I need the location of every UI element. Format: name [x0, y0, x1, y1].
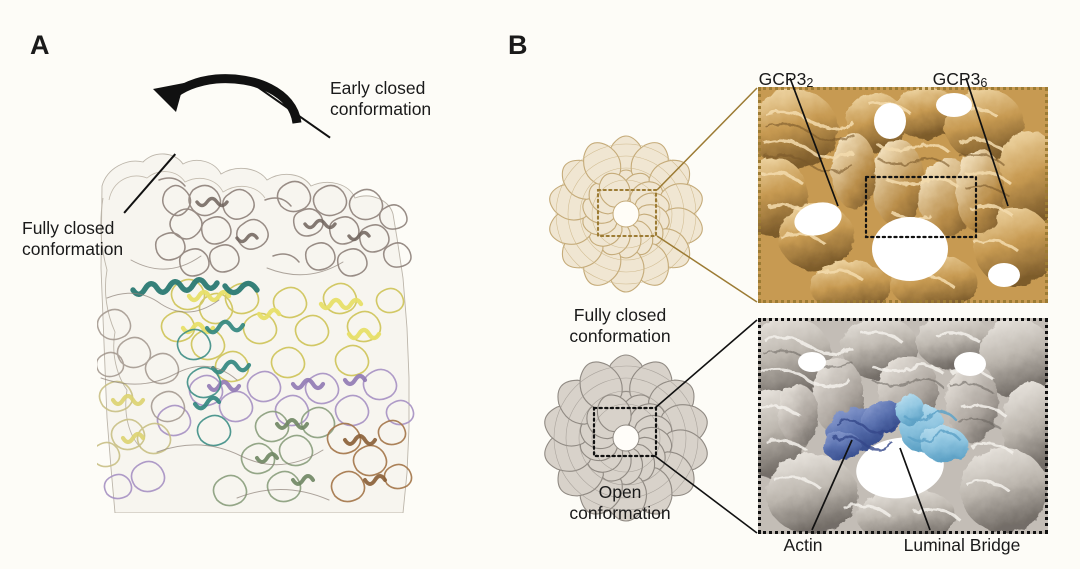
label-gcp3-6: GCP36 — [900, 48, 1020, 89]
inset-fully-closed-map — [758, 87, 1048, 303]
figure-root: A — [0, 0, 1080, 569]
label-gcp3-6-subscript: 6 — [980, 76, 987, 90]
panel-letter-a: A — [30, 32, 50, 59]
thumbnail-fully-closed-ring — [540, 128, 712, 300]
cryoem-map-gray — [758, 318, 1048, 534]
label-actin: Actin — [748, 535, 858, 556]
panel-letter-b: B — [508, 32, 528, 59]
label-gcp3-6-text: GCP3 — [933, 69, 981, 89]
label-fully-closed-conformation-a: Fully closed conformation — [22, 218, 207, 259]
label-gcp3-2: GCP32 — [726, 48, 846, 89]
label-open-conformation: Open conformation — [525, 482, 715, 523]
inset-open-map — [758, 318, 1048, 534]
label-early-closed-conformation: Early closed conformation — [330, 78, 495, 119]
label-gcp3-2-text: GCP3 — [759, 69, 807, 89]
cryoem-map-gold — [758, 87, 1048, 303]
label-fully-closed-conformation-b: Fully closed conformation — [525, 305, 715, 346]
gamma-turc-ring-gold — [546, 136, 706, 292]
label-gcp3-2-subscript: 2 — [806, 76, 813, 90]
label-luminal-bridge: Luminal Bridge — [862, 535, 1062, 556]
